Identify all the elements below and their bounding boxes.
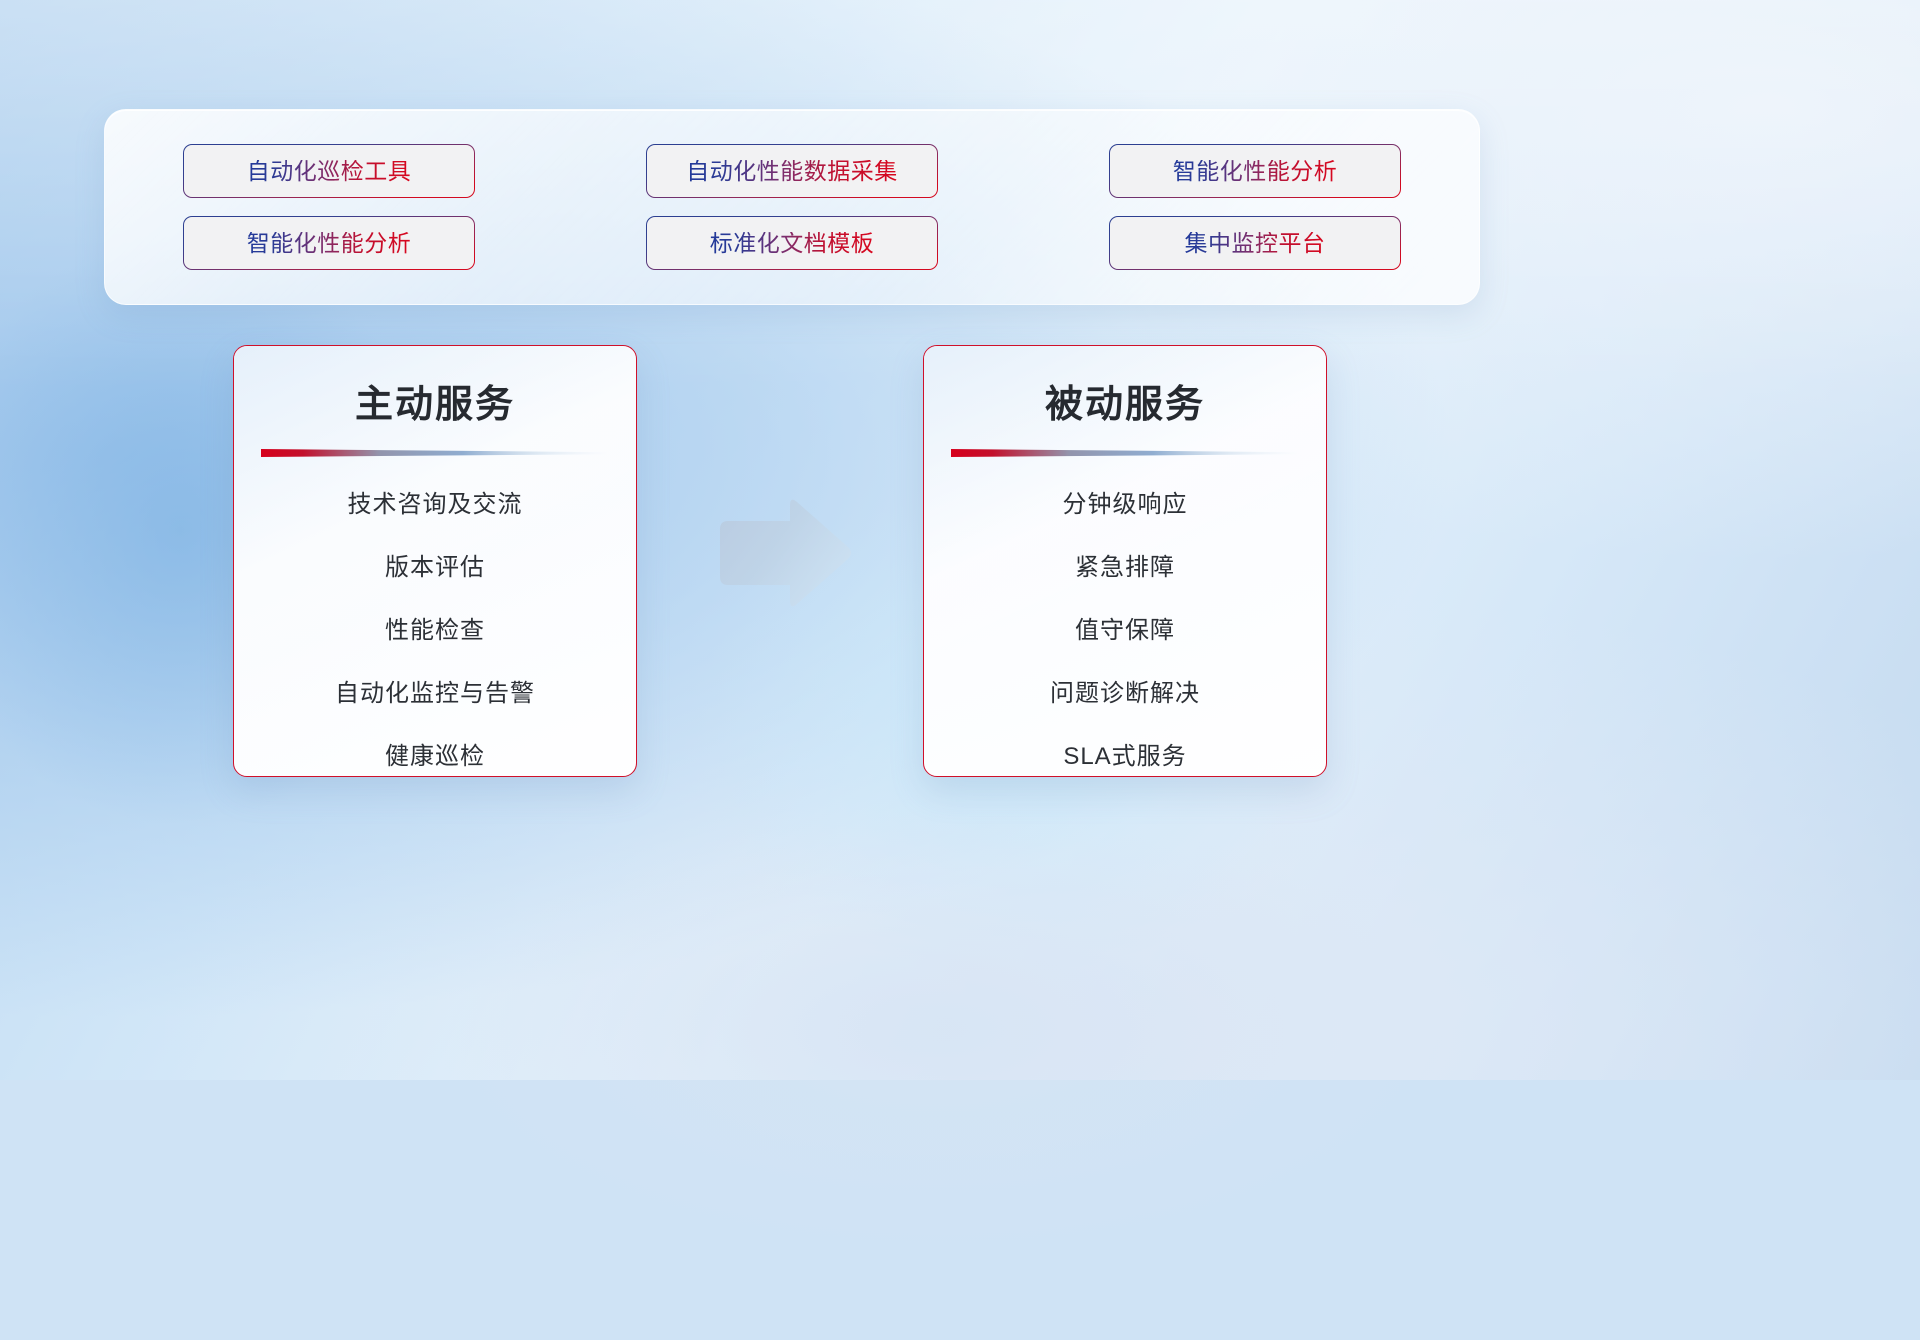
capability-row: 自动化巡检工具 自动化性能数据采集 智能化性能分析 bbox=[183, 144, 1401, 198]
list-item: 值守保障 bbox=[924, 610, 1326, 652]
flow-arrow-right-icon bbox=[714, 497, 854, 609]
capability-tag-automated-performance-data-collection[interactable]: 自动化性能数据采集 bbox=[646, 144, 938, 198]
background-glow-bottom bbox=[240, 720, 1640, 1340]
capability-tag-label: 自动化巡检工具 bbox=[247, 160, 412, 183]
proactive-service-title: 主动服务 bbox=[234, 346, 636, 428]
capability-tag-automated-inspection-tool[interactable]: 自动化巡检工具 bbox=[183, 144, 475, 198]
capability-tag-centralized-monitoring-platform[interactable]: 集中监控平台 bbox=[1109, 216, 1401, 270]
capabilities-panel: 自动化巡检工具 自动化性能数据采集 智能化性能分析 智能化性能分析 标准化文档模… bbox=[104, 109, 1480, 305]
proactive-service-list: 技术咨询及交流 版本评估 性能检查 自动化监控与告警 健康巡检 bbox=[234, 458, 636, 777]
proactive-service-card: 主动服务 技术咨询及交流 版本评估 性能检查 自动化监控与告警 健康巡检 bbox=[233, 345, 637, 777]
list-item: 健康巡检 bbox=[234, 736, 636, 777]
reactive-service-title: 被动服务 bbox=[924, 346, 1326, 428]
capability-tag-label: 自动化性能数据采集 bbox=[686, 160, 898, 183]
capability-tag-label: 智能化性能分析 bbox=[1173, 160, 1338, 183]
list-item: 分钟级响应 bbox=[924, 484, 1326, 526]
list-item: 自动化监控与告警 bbox=[234, 673, 636, 715]
capability-row: 智能化性能分析 标准化文档模板 集中监控平台 bbox=[183, 216, 1401, 270]
list-item: 性能检查 bbox=[234, 610, 636, 652]
title-divider bbox=[261, 448, 609, 458]
list-item: 版本评估 bbox=[234, 547, 636, 589]
capability-tag-standardized-document-template[interactable]: 标准化文档模板 bbox=[646, 216, 938, 270]
capability-tag-label: 集中监控平台 bbox=[1185, 232, 1326, 255]
list-item: 问题诊断解决 bbox=[924, 673, 1326, 715]
capability-tag-label: 智能化性能分析 bbox=[247, 232, 412, 255]
capability-tag-intelligent-performance-analysis[interactable]: 智能化性能分析 bbox=[1109, 144, 1401, 198]
list-item: 技术咨询及交流 bbox=[234, 484, 636, 526]
capability-tag-label: 标准化文档模板 bbox=[710, 232, 875, 255]
capability-tag-intelligent-performance-analysis-2[interactable]: 智能化性能分析 bbox=[183, 216, 475, 270]
list-item: SLA式服务 bbox=[924, 736, 1326, 777]
reactive-service-card: 被动服务 分钟级响应 紧急排障 值守保障 问题诊断解决 SLA式服务 bbox=[923, 345, 1327, 777]
reactive-service-list: 分钟级响应 紧急排障 值守保障 问题诊断解决 SLA式服务 bbox=[924, 458, 1326, 777]
list-item: 紧急排障 bbox=[924, 547, 1326, 589]
title-divider bbox=[951, 448, 1299, 458]
